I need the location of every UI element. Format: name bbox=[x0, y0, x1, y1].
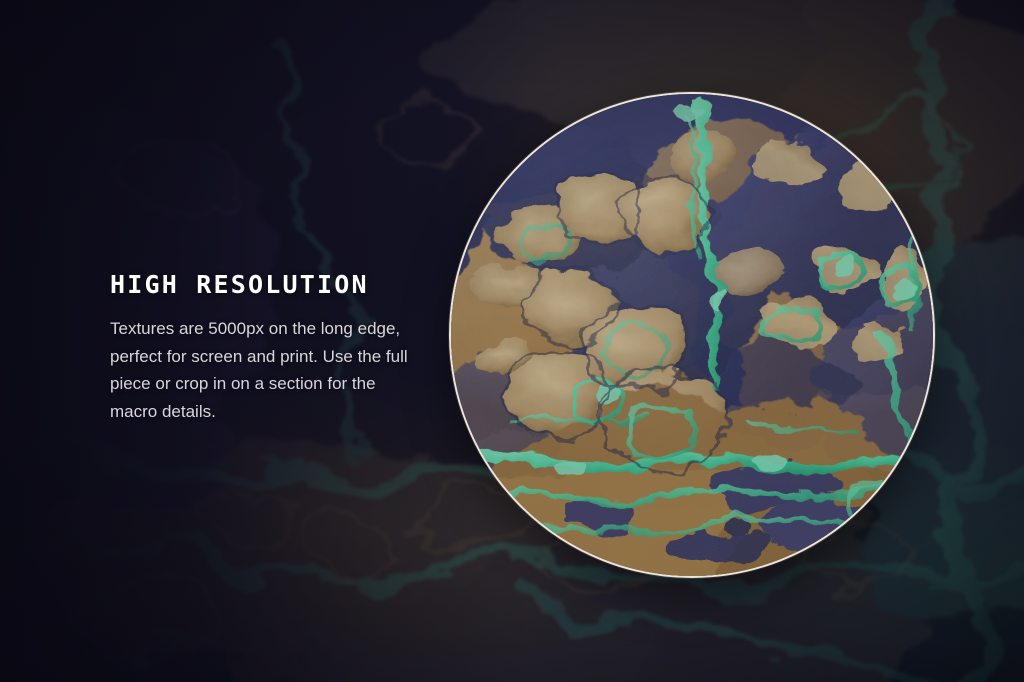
feature-headline: HIGH RESOLUTION bbox=[110, 272, 410, 297]
circular-texture-preview bbox=[449, 92, 935, 578]
feature-text-block: HIGH RESOLUTION Textures are 5000px on t… bbox=[110, 272, 410, 425]
feature-description: Textures are 5000px on the long edge, pe… bbox=[110, 315, 410, 425]
slide-canvas: HIGH RESOLUTION Textures are 5000px on t… bbox=[0, 0, 1024, 682]
